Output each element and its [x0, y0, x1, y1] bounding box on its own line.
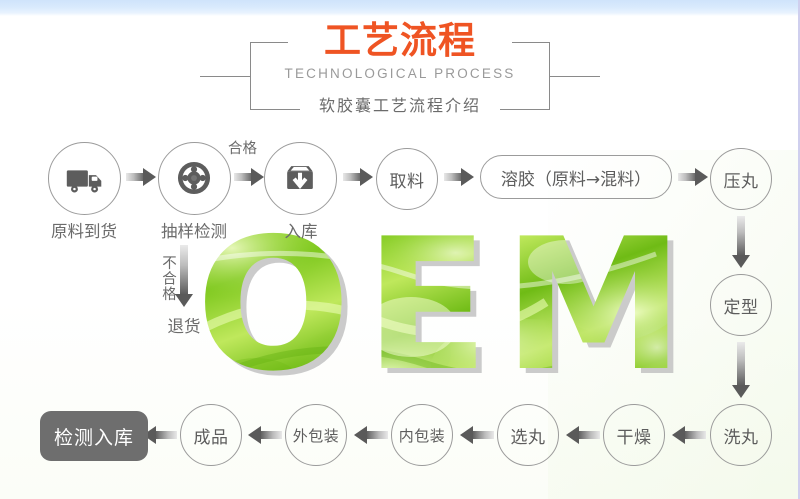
arrow-outer-packaging-to-finished — [248, 424, 282, 446]
node-pill-selection[interactable]: 选丸 — [497, 404, 559, 466]
arrow-selection-to-inner-packaging — [460, 424, 494, 446]
arrow-shaping-to-washing — [729, 342, 753, 398]
arrow-material-taking-to-solgel — [444, 166, 474, 188]
arrow-finished-to-inspect-store — [143, 424, 177, 446]
page-subtitle-cn: 软胶囊工艺流程介绍 — [240, 92, 560, 116]
truck-icon — [62, 156, 108, 202]
page-subtitle-en: TECHNOLOGICAL PROCESS — [240, 66, 560, 81]
node-raw-material-arrival[interactable] — [48, 142, 121, 215]
caption-warehousing: 入库 — [262, 218, 340, 242]
node-inspect-and-store-label: 检测入库 — [54, 423, 134, 450]
arrow-inner-to-outer-packaging — [354, 424, 388, 446]
node-drying-label: 干燥 — [617, 423, 652, 448]
node-pill-pressing[interactable]: 压丸 — [710, 148, 772, 210]
node-finished-product-label: 成品 — [194, 423, 229, 448]
node-outer-packaging[interactable]: 外包装 — [285, 404, 347, 466]
node-finished-product[interactable]: 成品 — [180, 404, 242, 466]
node-drying[interactable]: 干燥 — [603, 404, 665, 466]
svg-text:OEM: OEM — [202, 232, 676, 402]
arrow-warehouse-to-material-taking — [343, 166, 373, 188]
node-inspect-and-store[interactable]: 检测入库 — [40, 411, 148, 461]
inbox-box-arrow-icon — [278, 156, 324, 202]
arrow-pressing-to-shaping — [729, 216, 753, 268]
node-shaping[interactable]: 定型 — [710, 274, 772, 336]
caption-return-goods: 退货 — [152, 313, 216, 337]
node-material-taking[interactable]: 取料 — [376, 148, 438, 210]
node-shaping-label: 定型 — [724, 293, 759, 318]
page-title: 工艺流程 — [240, 20, 560, 62]
arrow-drying-to-selection — [566, 424, 600, 446]
inspection-valve-icon — [172, 156, 218, 202]
node-outer-packaging-label: 外包装 — [293, 425, 340, 446]
arrow-washing-to-drying — [672, 424, 706, 446]
top-blue-banner — [0, 0, 800, 13]
caption-sampling-inspection: 抽样检测 — [144, 218, 244, 242]
caption-raw-material-arrival: 原料到货 — [34, 218, 134, 242]
process-flow-infographic: 工艺流程 TECHNOLOGICAL PROCESS 软胶囊工艺流程介绍 — [0, 0, 800, 499]
node-material-taking-label: 取料 — [390, 167, 425, 192]
arrow-fail-to-return — [172, 245, 196, 307]
node-pill-washing-label: 洗丸 — [724, 423, 759, 448]
branch-label-pass: 合格 — [228, 137, 257, 158]
node-sol-gel-label: 溶胶（原料→混料） — [501, 165, 651, 190]
node-pill-selection-label: 选丸 — [511, 423, 546, 448]
arrow-arrival-to-inspection — [126, 166, 156, 188]
node-inner-packaging[interactable]: 内包装 — [391, 404, 453, 466]
node-sol-gel[interactable]: 溶胶（原料→混料） — [480, 155, 672, 199]
node-sampling-inspection[interactable] — [158, 142, 231, 215]
page-header: 工艺流程 TECHNOLOGICAL PROCESS 软胶囊工艺流程介绍 — [240, 22, 560, 114]
node-inner-packaging-label: 内包装 — [399, 425, 446, 446]
arrow-solgel-to-pill-pressing — [678, 166, 708, 188]
node-pill-washing[interactable]: 洗丸 — [710, 404, 772, 466]
node-pill-pressing-label: 压丸 — [724, 167, 759, 192]
oem-watermark: OEM OEM — [196, 232, 676, 402]
node-warehousing[interactable] — [264, 142, 337, 215]
top-banner-fade — [0, 13, 800, 16]
arrow-inspection-to-warehouse — [234, 166, 264, 188]
